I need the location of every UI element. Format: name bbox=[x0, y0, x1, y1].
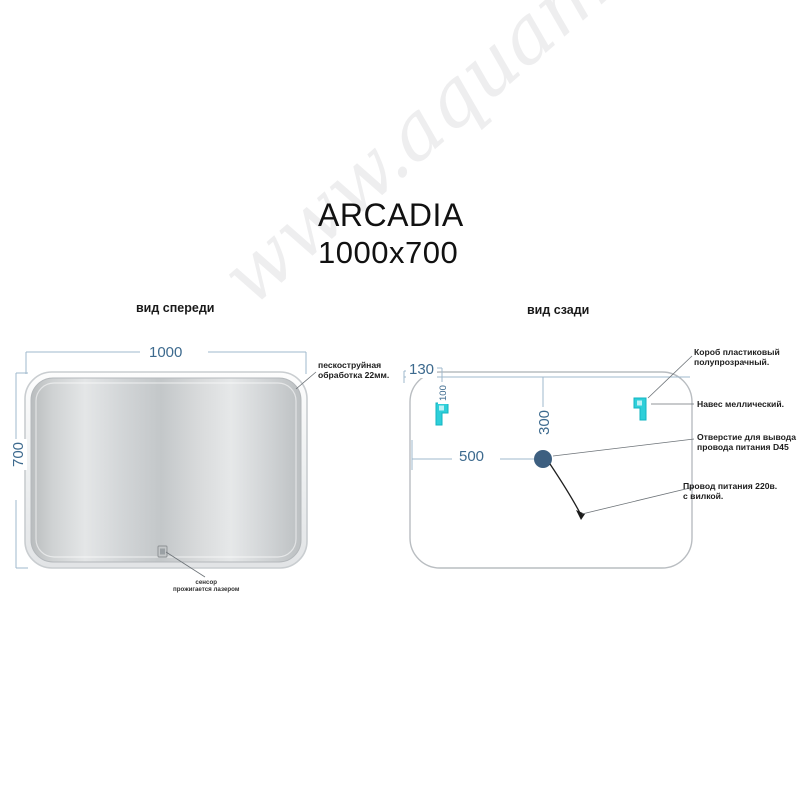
dimension-label-300: 300 bbox=[536, 407, 553, 438]
callout-cable-hole: Отверстие для вывода провода питания D45 bbox=[697, 432, 796, 453]
callout-metal-hanger: Навес меллический. bbox=[697, 399, 784, 409]
front-view-mirror bbox=[25, 372, 307, 568]
hanger-bracket-left-hole bbox=[439, 406, 444, 411]
view-label-rear: вид сзади bbox=[527, 303, 589, 317]
hanger-bracket-right-hole bbox=[637, 401, 642, 406]
dimension-label-130: 130 bbox=[406, 361, 437, 378]
drawing-title-block: ARCADIA 1000x700 bbox=[318, 196, 464, 272]
sensor-icon-inner bbox=[160, 549, 165, 555]
callout-plastic-box: Короб пластиковый полупрозрачный. bbox=[694, 347, 780, 368]
dimension-label-100: 100 bbox=[438, 382, 449, 404]
page-subtitle: 1000x700 bbox=[318, 234, 464, 272]
callout-power-cord: Провод питания 220в. с вилкой. bbox=[683, 481, 777, 502]
rear-panel-outline bbox=[410, 372, 692, 568]
cable-hole bbox=[534, 450, 552, 468]
dimension-label-height-700: 700 bbox=[10, 439, 27, 470]
drawing-canvas bbox=[0, 0, 800, 800]
page-title: ARCADIA bbox=[318, 196, 464, 234]
technical-drawing-page: www.aquamir.ru ARCADIA 1000x700 вид спер… bbox=[0, 0, 800, 800]
view-label-front: вид спереди bbox=[136, 301, 214, 315]
rear-view-body bbox=[410, 372, 692, 568]
dimension-label-500: 500 bbox=[456, 448, 487, 465]
dimension-label-width-1000: 1000 bbox=[146, 344, 185, 361]
mirror-glass bbox=[31, 378, 301, 562]
callout-sensor: сенсор прожигается лазером bbox=[173, 579, 239, 594]
callout-sandblast: пескоструйная обработка 22мм. bbox=[318, 360, 389, 381]
